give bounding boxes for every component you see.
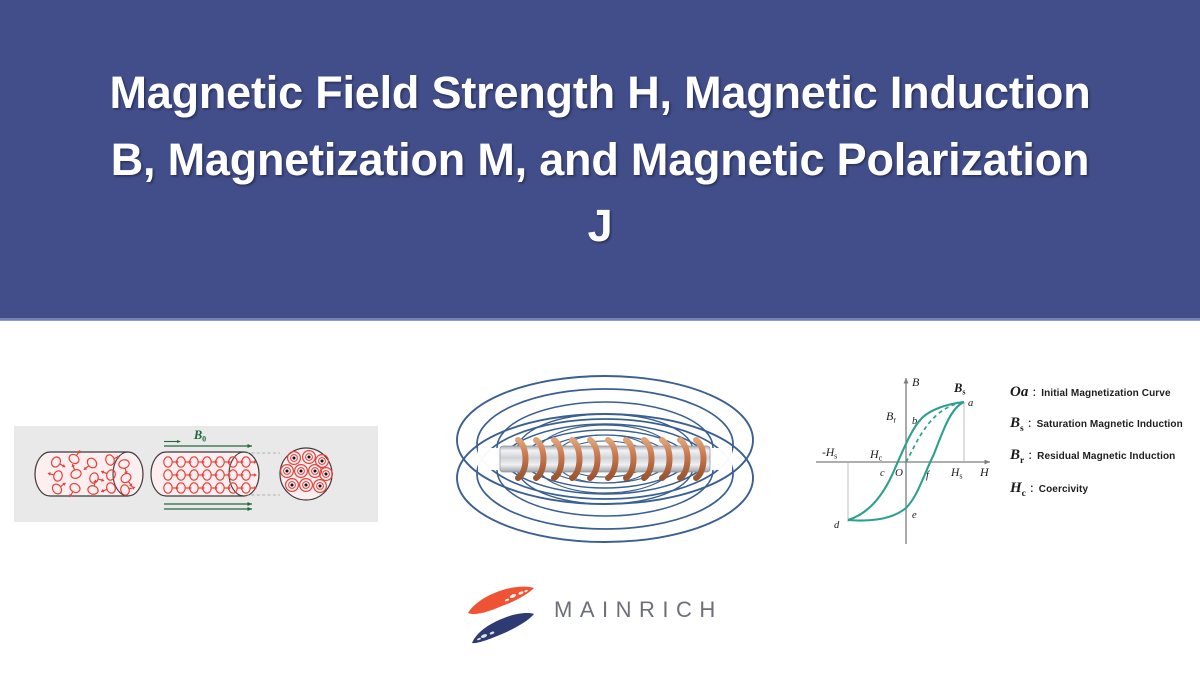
legend-colon: : bbox=[1032, 385, 1036, 401]
label-hs: Hs bbox=[950, 467, 962, 481]
label-neg-hs: -Hs bbox=[822, 447, 837, 461]
axis-label-b: B bbox=[912, 375, 920, 389]
point-label-f: f bbox=[926, 470, 931, 481]
figures-row: B0 bbox=[0, 320, 1200, 570]
legend-symbol: Hc bbox=[1010, 480, 1026, 499]
point-label-b: b bbox=[912, 416, 917, 427]
label-origin: O bbox=[895, 467, 903, 479]
page-title: Magnetic Field Strength H, Magnetic Indu… bbox=[100, 60, 1100, 260]
page-root: Magnetic Field Strength H, Magnetic Indu… bbox=[0, 0, 1200, 686]
point-label-c: c bbox=[880, 468, 885, 479]
b0-field-label: B0 bbox=[193, 428, 206, 444]
legend-label: Initial Magnetization Curve bbox=[1041, 388, 1170, 399]
solenoid-figure bbox=[430, 348, 780, 570]
label-br: Br bbox=[886, 409, 896, 425]
legend-item-br: Br : Residual Magnetic Induction bbox=[1010, 447, 1200, 466]
legend-symbol: Br bbox=[1010, 447, 1024, 466]
point-label-a: a bbox=[968, 398, 973, 409]
legend-item-bs: Bs : Saturation Magnetic Induction bbox=[1010, 415, 1200, 434]
axis-label-h: H bbox=[979, 465, 990, 479]
magnetic-domains-figure: B0 bbox=[14, 426, 378, 522]
legend-colon: : bbox=[1030, 481, 1034, 497]
hysteresis-legend: Oa : Initial Magnetization Curve Bs : Sa… bbox=[1010, 384, 1200, 512]
label-bs: Bs bbox=[953, 381, 965, 397]
title-banner: Magnetic Field Strength H, Magnetic Indu… bbox=[0, 0, 1200, 320]
brush-stroke-orange bbox=[468, 587, 534, 614]
brush-strokes-icon bbox=[466, 583, 542, 645]
domains-illustration-icon: B0 bbox=[14, 426, 378, 522]
domain-panel-aligned: B0 bbox=[151, 428, 259, 511]
legend-colon: : bbox=[1028, 416, 1032, 432]
logo-wordmark: MAINRICH bbox=[554, 597, 723, 623]
legend-label: Coercivity bbox=[1039, 484, 1088, 495]
point-label-d: d bbox=[834, 520, 840, 531]
hysteresis-figure: B H Bs Br Hc Hs -Hs O a b c d e f bbox=[808, 362, 1200, 554]
point-label-e: e bbox=[912, 510, 917, 521]
solenoid-illustration-icon bbox=[430, 348, 780, 570]
hysteresis-loop-icon: B H Bs Br Hc Hs -Hs O a b c d e f bbox=[808, 362, 1004, 554]
domain-panel-random bbox=[35, 447, 143, 499]
legend-symbol: Bs bbox=[1010, 415, 1024, 434]
b0-field-arrow-top bbox=[164, 440, 252, 448]
brush-stroke-navy bbox=[472, 613, 534, 643]
legend-symbol: Oa bbox=[1010, 384, 1028, 401]
legend-item-oa: Oa : Initial Magnetization Curve bbox=[1010, 384, 1200, 401]
b0-field-arrow-bottom bbox=[164, 502, 252, 511]
legend-label: Saturation Magnetic Induction bbox=[1037, 419, 1183, 430]
solenoid-core bbox=[500, 446, 710, 472]
legend-item-hc: Hc : Coercivity bbox=[1010, 480, 1200, 499]
legend-label: Residual Magnetic Induction bbox=[1037, 451, 1175, 462]
legend-colon: : bbox=[1028, 448, 1032, 464]
label-hc: Hc bbox=[869, 447, 883, 463]
brand-logo[interactable]: MAINRICH bbox=[466, 583, 736, 645]
